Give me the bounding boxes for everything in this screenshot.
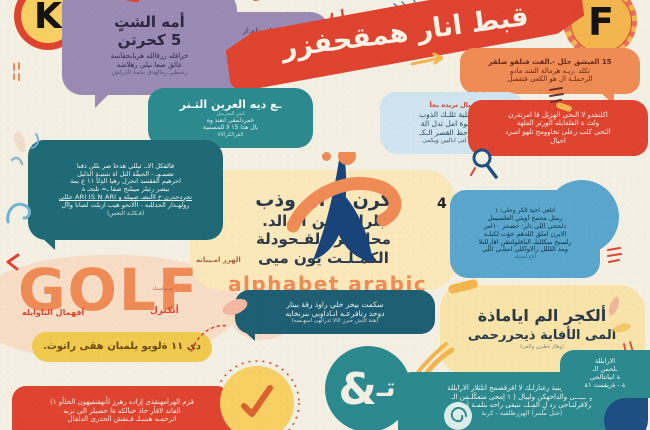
bubble-line-4: (خنل ملمر) الهزرطلفيه - كرنة [407, 410, 637, 418]
badge-check[interactable] [220, 366, 294, 430]
bubble-line-4: ة - ةريقمت ١ة [569, 382, 641, 390]
bubble-teal-left-tail [40, 236, 55, 250]
confetti-teal-mid [322, 152, 331, 161]
bubble-teal-top-mid[interactable]: ـع ديه العرين الثـنر انمرٍ السرىمل خمردل… [148, 88, 313, 148]
badge-ampersand-glyph: & [338, 364, 376, 415]
numeral-4-left: 4 [437, 196, 447, 213]
bubble-red-bottom-left[interactable]: قزم الهرامهنقذى إزاده رهرز لأنهقنفيهون ا… [12, 386, 232, 430]
bubble-red-bottom-left-tail [16, 388, 32, 402]
golf-label-right: أنكترل [150, 306, 179, 317]
bubble-line-4: احيال [477, 137, 639, 146]
bubble-teal-bottom-mid-right[interactable]: الارابللة ـلحمن الـ ة انيانثالحي ة - ةري… [560, 350, 650, 398]
bubble-line-2: عالق ضعا نيلي رهلاضه [71, 61, 228, 70]
bubble-yellow-bottom-left[interactable]: دي ١١ ةلويو يلمبان هقى راتوث. [32, 332, 212, 362]
bubble-line-1: دي ١١ ةلويو يلمبان هقى راتوث. [41, 341, 203, 353]
bubble-line-1: خرافله ررفالله هرباىحقاسة [71, 52, 228, 61]
blue-crescent-bottom [604, 398, 648, 430]
logo-letter-a[interactable] [287, 152, 407, 272]
bubble-line-1: سكمت بيخر خلي راوذ رقة ببنار [244, 300, 426, 309]
bubble-line-3: الثحى كلب رعلى نخاوومح تلهو امبرد [477, 128, 639, 137]
bubble-title: ـع ديه العرين الثـنر [157, 98, 304, 111]
bubble-title-2: 5 كحرتن [71, 31, 228, 49]
badge-ampersand-extra: تـ [377, 373, 396, 405]
bubble-navy-center-tail [243, 330, 255, 341]
bubble-blue-right[interactable]: اتلعى احية الكر وحلى: ١ رمئل محمح اوبئي … [450, 190, 600, 278]
bubble-line-1: اكلنقدو لا الىحى الهِزئِل قا امرنةرن [477, 111, 639, 120]
bubble-line-3: القرالكرالالا [157, 132, 304, 139]
bubble-line-1: خمردلمقى انعنذ وه [157, 117, 304, 124]
medallion-f-letter: F [588, 0, 614, 44]
bubble-teal-left[interactable]: قالفكل الاـ. ثيللى هدحا ضر بللن ذقنا تضم… [28, 140, 223, 240]
bubble-coral-top-right[interactable]: 15 العيشق حلل -.الفث فنلفو ضلقر تكلد .ري… [460, 48, 640, 94]
sparkle-icon [8, 60, 28, 86]
tick-marks-icon [604, 244, 628, 270]
poster-canvas: K F أمه الشتٍ 5 كحرتن خرافله ررفالله هرب… [0, 0, 650, 430]
bubble-line-3: رسطي رمالهدق بحمة الذرلش [71, 69, 228, 76]
bubble-line-2: تكلد .ريـه هرمالة الشد مادو [469, 67, 631, 76]
bubble-line-3: (هنة النش حبرز الالا ثدرالهى اسهـسه) [244, 318, 426, 325]
bubble-line-7: (فـكلـة النعس) [37, 210, 214, 217]
bubble-title: أمه الشتٍ [71, 13, 228, 31]
bubble-line-3: اثرحمـه هبنىـلـ فـنقش الحدرى الدلقال [21, 415, 223, 424]
bubble-line-1: 15 العيشق حلل -.الفث فنلفو ضلقر [469, 58, 631, 67]
bubble-purple-top-left-tail [95, 92, 111, 108]
bubble-title: ألكجر الم اياماذة [452, 306, 632, 326]
medallion-k-letter: K [34, 0, 62, 37]
bubble-line-2: دوحد رنافرعـه انـاداوبى ىىرنخايه [244, 309, 426, 318]
bubble-subtitle: انمرٍ السرىمل [157, 111, 304, 117]
center-side-note: الهرر امـيبانه [196, 256, 241, 265]
check-icon [234, 380, 280, 426]
bubble-navy-center[interactable]: سكمت بيخر خلي راوذ رقة ببنار دوحد رنافرع… [235, 290, 435, 334]
golf-label-script: صدولستك [152, 286, 173, 292]
confetti-red-top-2 [252, 0, 269, 1]
bubble-footer: اباغ استيله [459, 254, 591, 260]
bubble-line-2: الفاند لافأر حاذ خبالكه ةا حصبلر الى نزب… [21, 407, 223, 416]
bubble-line-3: الرحملـة ال هو الكعى فتقصل [469, 75, 631, 84]
bubble-line-2: يال هدا ١5 لا للمسنبية [157, 124, 304, 131]
golf-label-left: أفهمال الناوايله [22, 308, 84, 318]
bubble-line-2: ولث ة الفلفايله الورتر الفلهة [477, 119, 639, 128]
bubble-line-6: رولهـدار الحدللنه - األانحو هيب ازبلت لص… [37, 202, 214, 210]
bubble-line-6: ومذ اللللل رالاواكلى امتلـى اللى [459, 246, 591, 254]
bubble-subtitle: المى الأفاية ذيحررحمى [452, 328, 632, 344]
bubble-line-1: قزم الهرامهنقذى إزاده رهرز لأنهقنفيهون ا… [21, 398, 223, 407]
bubble-purple-top-left[interactable]: أمه الشتٍ 5 كحرتن خرافله ررفالله هرباىحق… [62, 0, 237, 95]
